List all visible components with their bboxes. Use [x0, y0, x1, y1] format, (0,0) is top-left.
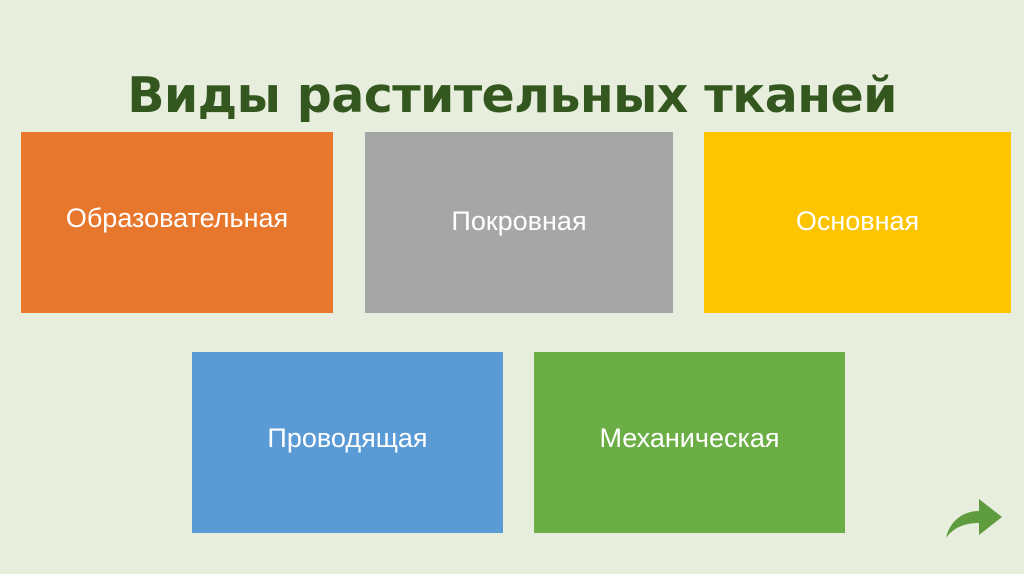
tissue-card-label: Покровная [451, 206, 586, 237]
tissue-card-label: Образовательная [66, 203, 288, 234]
tissue-card-pokrovnaya[interactable]: Покровная [365, 132, 673, 313]
forward-arrow-icon[interactable] [944, 496, 1004, 540]
tissue-card-label: Механическая [599, 423, 779, 454]
tissue-card-mekhanicheskaya[interactable]: Механическая [534, 352, 845, 533]
tissue-card-provodyashchaya[interactable]: Проводящая [192, 352, 503, 533]
page-title: Виды растительных тканей [0, 67, 1024, 125]
tissue-card-obrazovatelnaya[interactable]: Образовательная [21, 132, 333, 313]
tissue-card-label: Основная [796, 206, 919, 237]
tissue-card-label: Проводящая [267, 423, 427, 454]
tissue-card-osnovnaya[interactable]: Основная [704, 132, 1011, 313]
slide-canvas: Виды растительных тканей Образовательная… [0, 0, 1024, 574]
